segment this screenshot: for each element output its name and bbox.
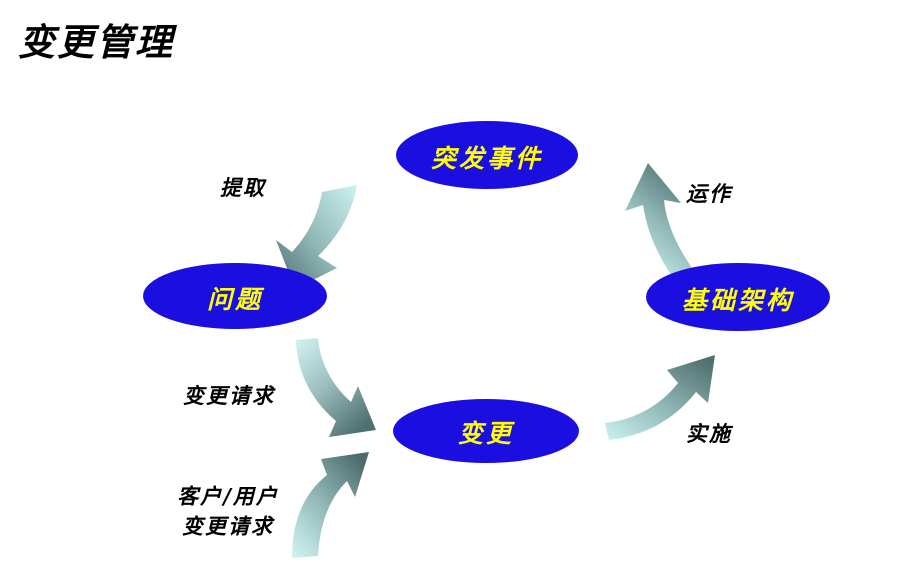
node-problem[interactable]	[143, 263, 327, 329]
node-infrastructure[interactable]	[646, 263, 830, 331]
arrow-customer-change-request	[292, 452, 369, 558]
node-incident[interactable]	[396, 121, 578, 189]
slide-canvas: 变更管理	[0, 0, 917, 564]
edge-label-implementation: 实施	[686, 419, 732, 449]
edge-label-extract: 提取	[220, 173, 266, 203]
edge-label-operation: 运作	[686, 179, 732, 209]
edge-label-customer-change-request: 客户/用户 变更请求	[177, 482, 279, 543]
arrow-operation	[625, 163, 692, 276]
edge-label-change-request: 变更请求	[183, 381, 275, 411]
edge-label-customer-change-request-line1: 客户/用户	[177, 482, 279, 512]
change-management-cycle-diagram	[0, 0, 917, 564]
arrow-change-request	[296, 338, 376, 437]
edge-label-customer-change-request-line2: 变更请求	[177, 512, 279, 542]
node-change[interactable]	[393, 399, 579, 463]
